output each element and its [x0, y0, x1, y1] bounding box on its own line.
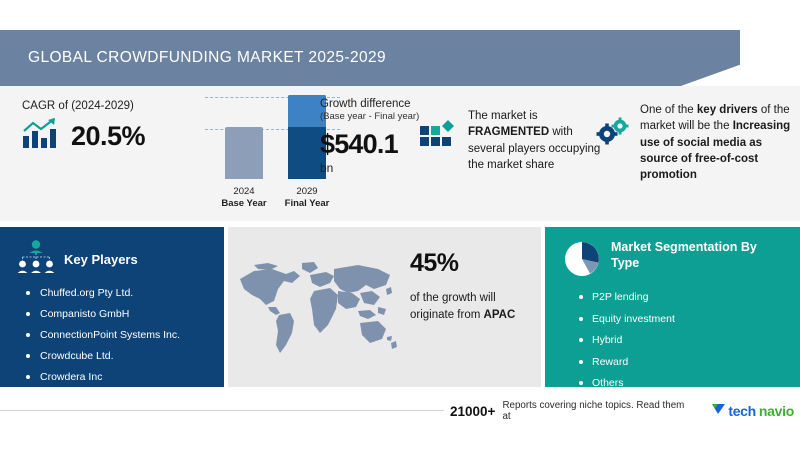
list-item: Hybrid [579, 335, 800, 346]
bar-chart-growth-icon [22, 118, 62, 155]
key-players-list: Chuffed.org Pty Ltd. Companisto GmbH Con… [0, 288, 224, 383]
logo-text-navio: navio [759, 403, 794, 419]
squares-cluster-icon [420, 108, 456, 173]
bar-sublabel-final-year: Final Year [279, 198, 335, 209]
gears-icon [596, 102, 630, 184]
list-item: Crowdcube Ltd. [26, 351, 224, 362]
reports-count: 21000+ [450, 404, 495, 419]
drivers-text-prefix: One of the [640, 104, 697, 116]
page-title: GLOBAL CROWDFUNDING MARKET 2025-2029 [0, 49, 386, 67]
logo-text-tech: tech [728, 403, 756, 419]
key-players-title: Key Players [64, 252, 138, 267]
apac-percent: 45% [410, 249, 535, 278]
cagr-label: CAGR of (2024-2029) [22, 100, 207, 112]
list-item: ConnectionPoint Systems Inc. [26, 330, 224, 341]
list-item: Others [579, 378, 800, 389]
list-item: Chuffed.org Pty Ltd. [26, 288, 224, 299]
list-item: P2P lending [579, 292, 800, 303]
frag-text-prefix: The market is [468, 110, 538, 122]
market-segmentation-list: P2P lending Equity investment Hybrid Rew… [545, 292, 800, 389]
bar-label-base-year: 2024 [216, 186, 272, 197]
market-segmentation-panel: Market Segmentation By Type P2P lending … [545, 227, 800, 387]
pointer-arrow-icon [292, 110, 319, 119]
apac-subtext-bold: APAC [484, 309, 516, 321]
list-item: Crowdera Inc [26, 372, 224, 383]
market-fragmented-text: The market is FRAGMENTED with several pl… [468, 108, 605, 173]
apac-growth-panel: 45% of the growth will originate from AP… [228, 227, 541, 387]
list-item: Equity investment [579, 314, 800, 325]
market-fragmented-block: The market is FRAGMENTED with several pl… [420, 108, 605, 173]
stats-band: CAGR of (2024-2029) 20.5% [0, 86, 800, 221]
apac-subtext: of the growth will originate from APAC [410, 290, 535, 323]
apac-text-block: 45% of the growth will originate from AP… [410, 249, 535, 323]
footer-text: Reports covering niche topics. Read them… [502, 400, 691, 422]
pie-chart-icon [563, 240, 601, 283]
world-map-icon [234, 257, 404, 357]
frag-text-bold: FRAGMENTED [468, 126, 549, 138]
org-chart-people-icon [16, 239, 56, 280]
technavio-mark-icon [712, 402, 725, 420]
key-drivers-text: One of the key drivers of the market wil… [640, 102, 800, 184]
drivers-text-bold-1: key drivers [697, 104, 758, 116]
technavio-logo[interactable]: technavio [712, 402, 794, 420]
key-drivers-block: One of the key drivers of the market wil… [596, 102, 800, 184]
cagr-value: 20.5% [71, 121, 145, 152]
bar-base-year [225, 127, 263, 179]
list-item: Companisto GmbH [26, 309, 224, 320]
market-segmentation-title: Market Segmentation By Type [611, 240, 776, 271]
footer: 21000+ Reports covering niche topics. Re… [0, 400, 800, 430]
header-banner: GLOBAL CROWDFUNDING MARKET 2025-2029 [0, 30, 740, 86]
infographic-canvas: GLOBAL CROWDFUNDING MARKET 2025-2029 CAG… [0, 0, 800, 450]
key-players-panel: Key Players Chuffed.org Pty Ltd. Compani… [0, 227, 224, 387]
bar-sublabel-base-year: Base Year [216, 198, 272, 209]
list-item: Reward [579, 357, 800, 368]
cagr-block: CAGR of (2024-2029) 20.5% [22, 100, 207, 155]
bar-label-final-year: 2029 [279, 186, 335, 197]
